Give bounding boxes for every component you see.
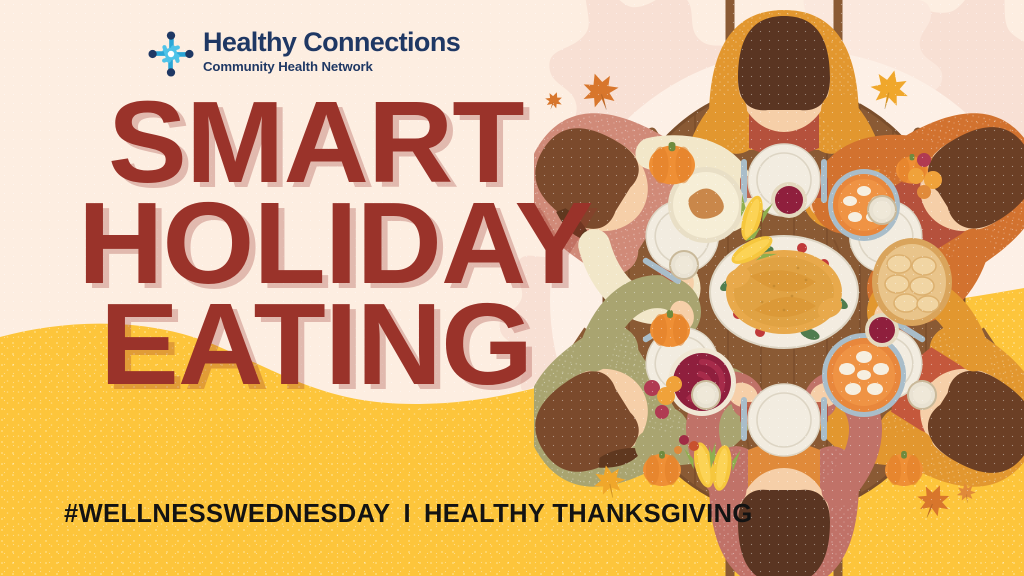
- people-pinwheel-icon: [148, 30, 194, 78]
- brand-logo[interactable]: Healthy Connections Community Health Net…: [148, 28, 460, 78]
- gravy-bowl: [908, 381, 936, 409]
- cranberry-sauce: [771, 182, 807, 218]
- gravy-bowl: [868, 196, 896, 224]
- bread-rolls-basket: [872, 238, 952, 326]
- dinner-plate: [748, 384, 820, 456]
- page-title: SMART HOLIDAY EATING: [0, 96, 600, 390]
- headline-line-1: SMART: [108, 96, 610, 189]
- poster-canvas: Healthy Connections Community Health Net…: [0, 0, 1024, 576]
- tagline-topic: HEALTHY THANKSGIVING: [424, 500, 753, 529]
- headline-line-3: EATING: [100, 298, 610, 391]
- logo-title: Healthy Connections: [203, 29, 460, 57]
- tagline-separator: I: [390, 500, 424, 529]
- logo-subtitle: Community Health Network: [203, 59, 460, 74]
- tagline-hashtag: #WELLNESSWEDNESDAY: [64, 500, 390, 529]
- roast-turkey: [710, 236, 858, 348]
- logo-wordmark: Healthy Connections Community Health Net…: [203, 28, 460, 74]
- gravy-bowl: [670, 251, 698, 279]
- tagline: #WELLNESSWEDNESDAY I HEALTHY THANKSGIVIN…: [64, 500, 753, 529]
- pumpkin-pie: [822, 333, 906, 417]
- gravy-bowl: [692, 381, 720, 409]
- headline-line-2: HOLIDAY: [78, 197, 610, 290]
